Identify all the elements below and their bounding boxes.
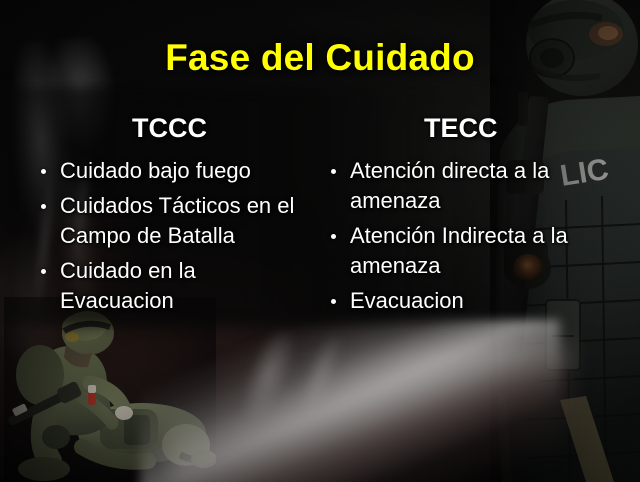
slide-title: Fase del Cuidado (0, 36, 640, 80)
column-heading-tccc: TCCC (132, 113, 207, 143)
list-item: Cuidado bajo fuego (36, 156, 306, 186)
list-item: Cuidado en la Evacuacion (36, 256, 306, 316)
presentation-slide: LIC (0, 0, 640, 482)
list-item: Evacuacion (326, 286, 576, 316)
smoke-bank-secondary-graphic (170, 345, 570, 482)
medic-treating-casualty-image (4, 297, 216, 482)
smoke-bank-graphic (140, 320, 560, 482)
list-item: Atención directa a la amenaza (326, 156, 576, 216)
list-item: Atención Indirecta a la amenaza (326, 221, 576, 281)
column-heading-tecc: TECC (424, 113, 498, 143)
bullet-list-tecc: Atención directa a la amenaza Atención I… (326, 156, 576, 321)
list-item: Cuidados Tácticos en el Campo de Batalla (36, 191, 306, 251)
bullet-list-tccc: Cuidado bajo fuego Cuidados Tácticos en … (36, 156, 306, 321)
